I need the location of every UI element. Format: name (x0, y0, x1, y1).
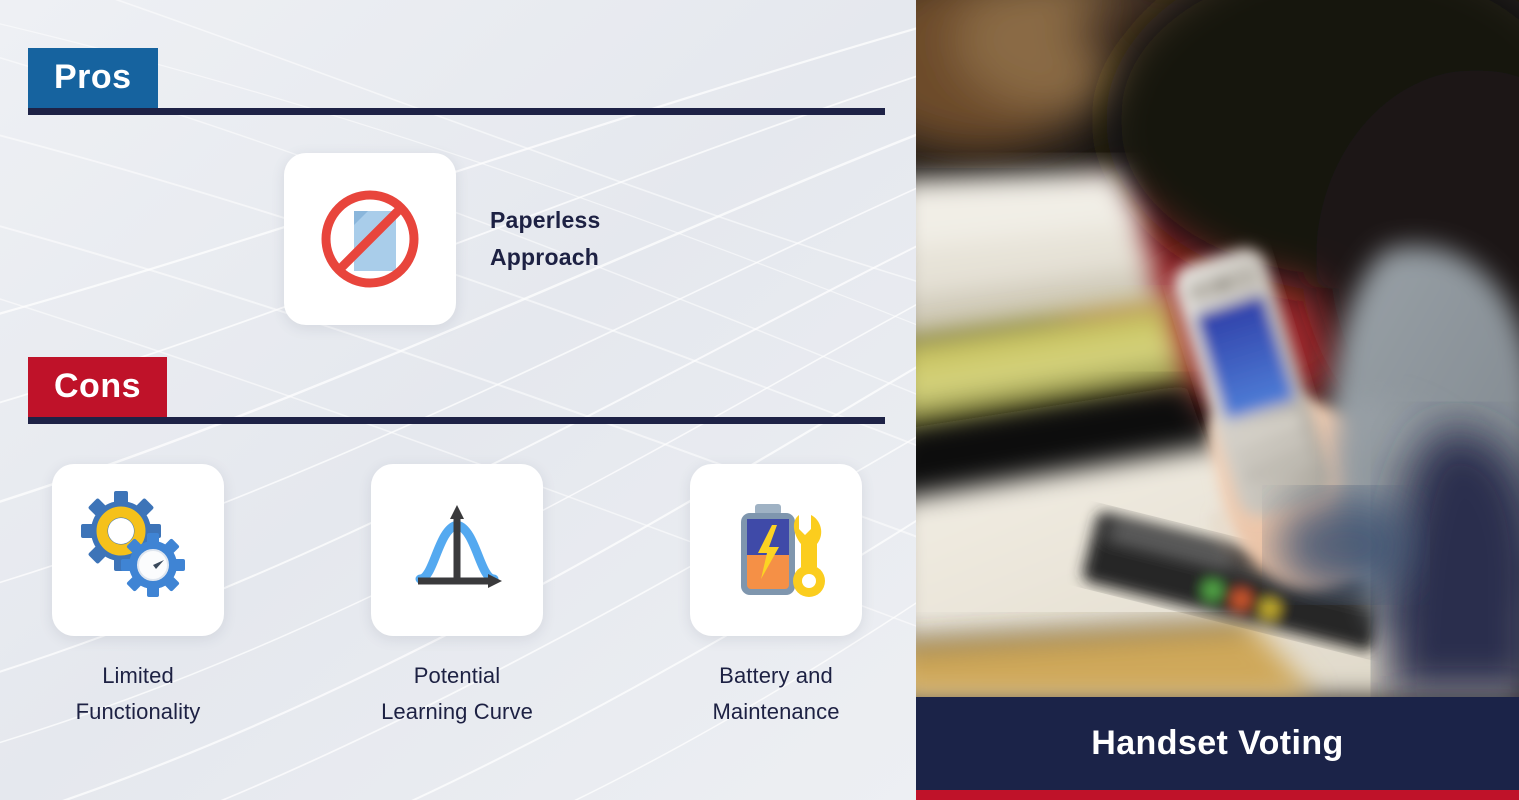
left-content-panel: Pros Paperless Approach (0, 0, 916, 800)
right-media-panel: Handset Voting (916, 0, 1519, 800)
con-card-battery-and-maintenance[interactable] (690, 464, 862, 636)
con-card-potential-learning-curve[interactable] (371, 464, 543, 636)
pros-section-header: Pros (0, 48, 886, 115)
con-label-battery-and-maintenance: Battery and Maintenance (712, 658, 839, 730)
con-label-line2: Maintenance (712, 694, 839, 730)
con-label-line2: Functionality (76, 694, 201, 730)
gears-icon (79, 491, 197, 609)
cons-badge: Cons (28, 357, 167, 417)
pros-card-paperless[interactable] (284, 153, 456, 325)
handset-photo (916, 0, 1519, 697)
pros-divider-rule (28, 108, 885, 115)
cons-section-header: Cons (0, 357, 886, 424)
bell-curve-chart-icon (398, 491, 516, 609)
page-title: Handset Voting (1091, 724, 1343, 763)
cons-divider-rule (28, 417, 885, 424)
pros-label-paperless: Paperless Approach (490, 202, 601, 276)
con-item-battery-and-maintenance: Battery and Maintenance (690, 464, 862, 730)
con-label-line2: Learning Curve (381, 694, 533, 730)
pros-label-line1: Paperless (490, 202, 601, 239)
no-paper-icon (310, 179, 430, 299)
pros-badge: Pros (28, 48, 158, 108)
handset-photo-illustration (916, 0, 1519, 697)
bottom-accent-strip (916, 790, 1519, 800)
con-item-limited-functionality: Limited Functionality (52, 464, 224, 730)
con-label-line1: Battery and (712, 658, 839, 694)
con-label-limited-functionality: Limited Functionality (76, 658, 201, 730)
pros-label-line2: Approach (490, 239, 601, 276)
con-label-line1: Potential (381, 658, 533, 694)
con-label-potential-learning-curve: Potential Learning Curve (381, 658, 533, 730)
battery-wrench-icon (717, 491, 835, 609)
slide-root: Pros Paperless Approach (0, 0, 1519, 800)
slide-title-bar: Handset Voting (916, 697, 1519, 790)
con-item-potential-learning-curve: Potential Learning Curve (371, 464, 543, 730)
con-label-line1: Limited (76, 658, 201, 694)
cons-items-row: Limited Functionality (52, 464, 862, 730)
pros-items-row: Paperless Approach (284, 153, 601, 325)
con-card-limited-functionality[interactable] (52, 464, 224, 636)
